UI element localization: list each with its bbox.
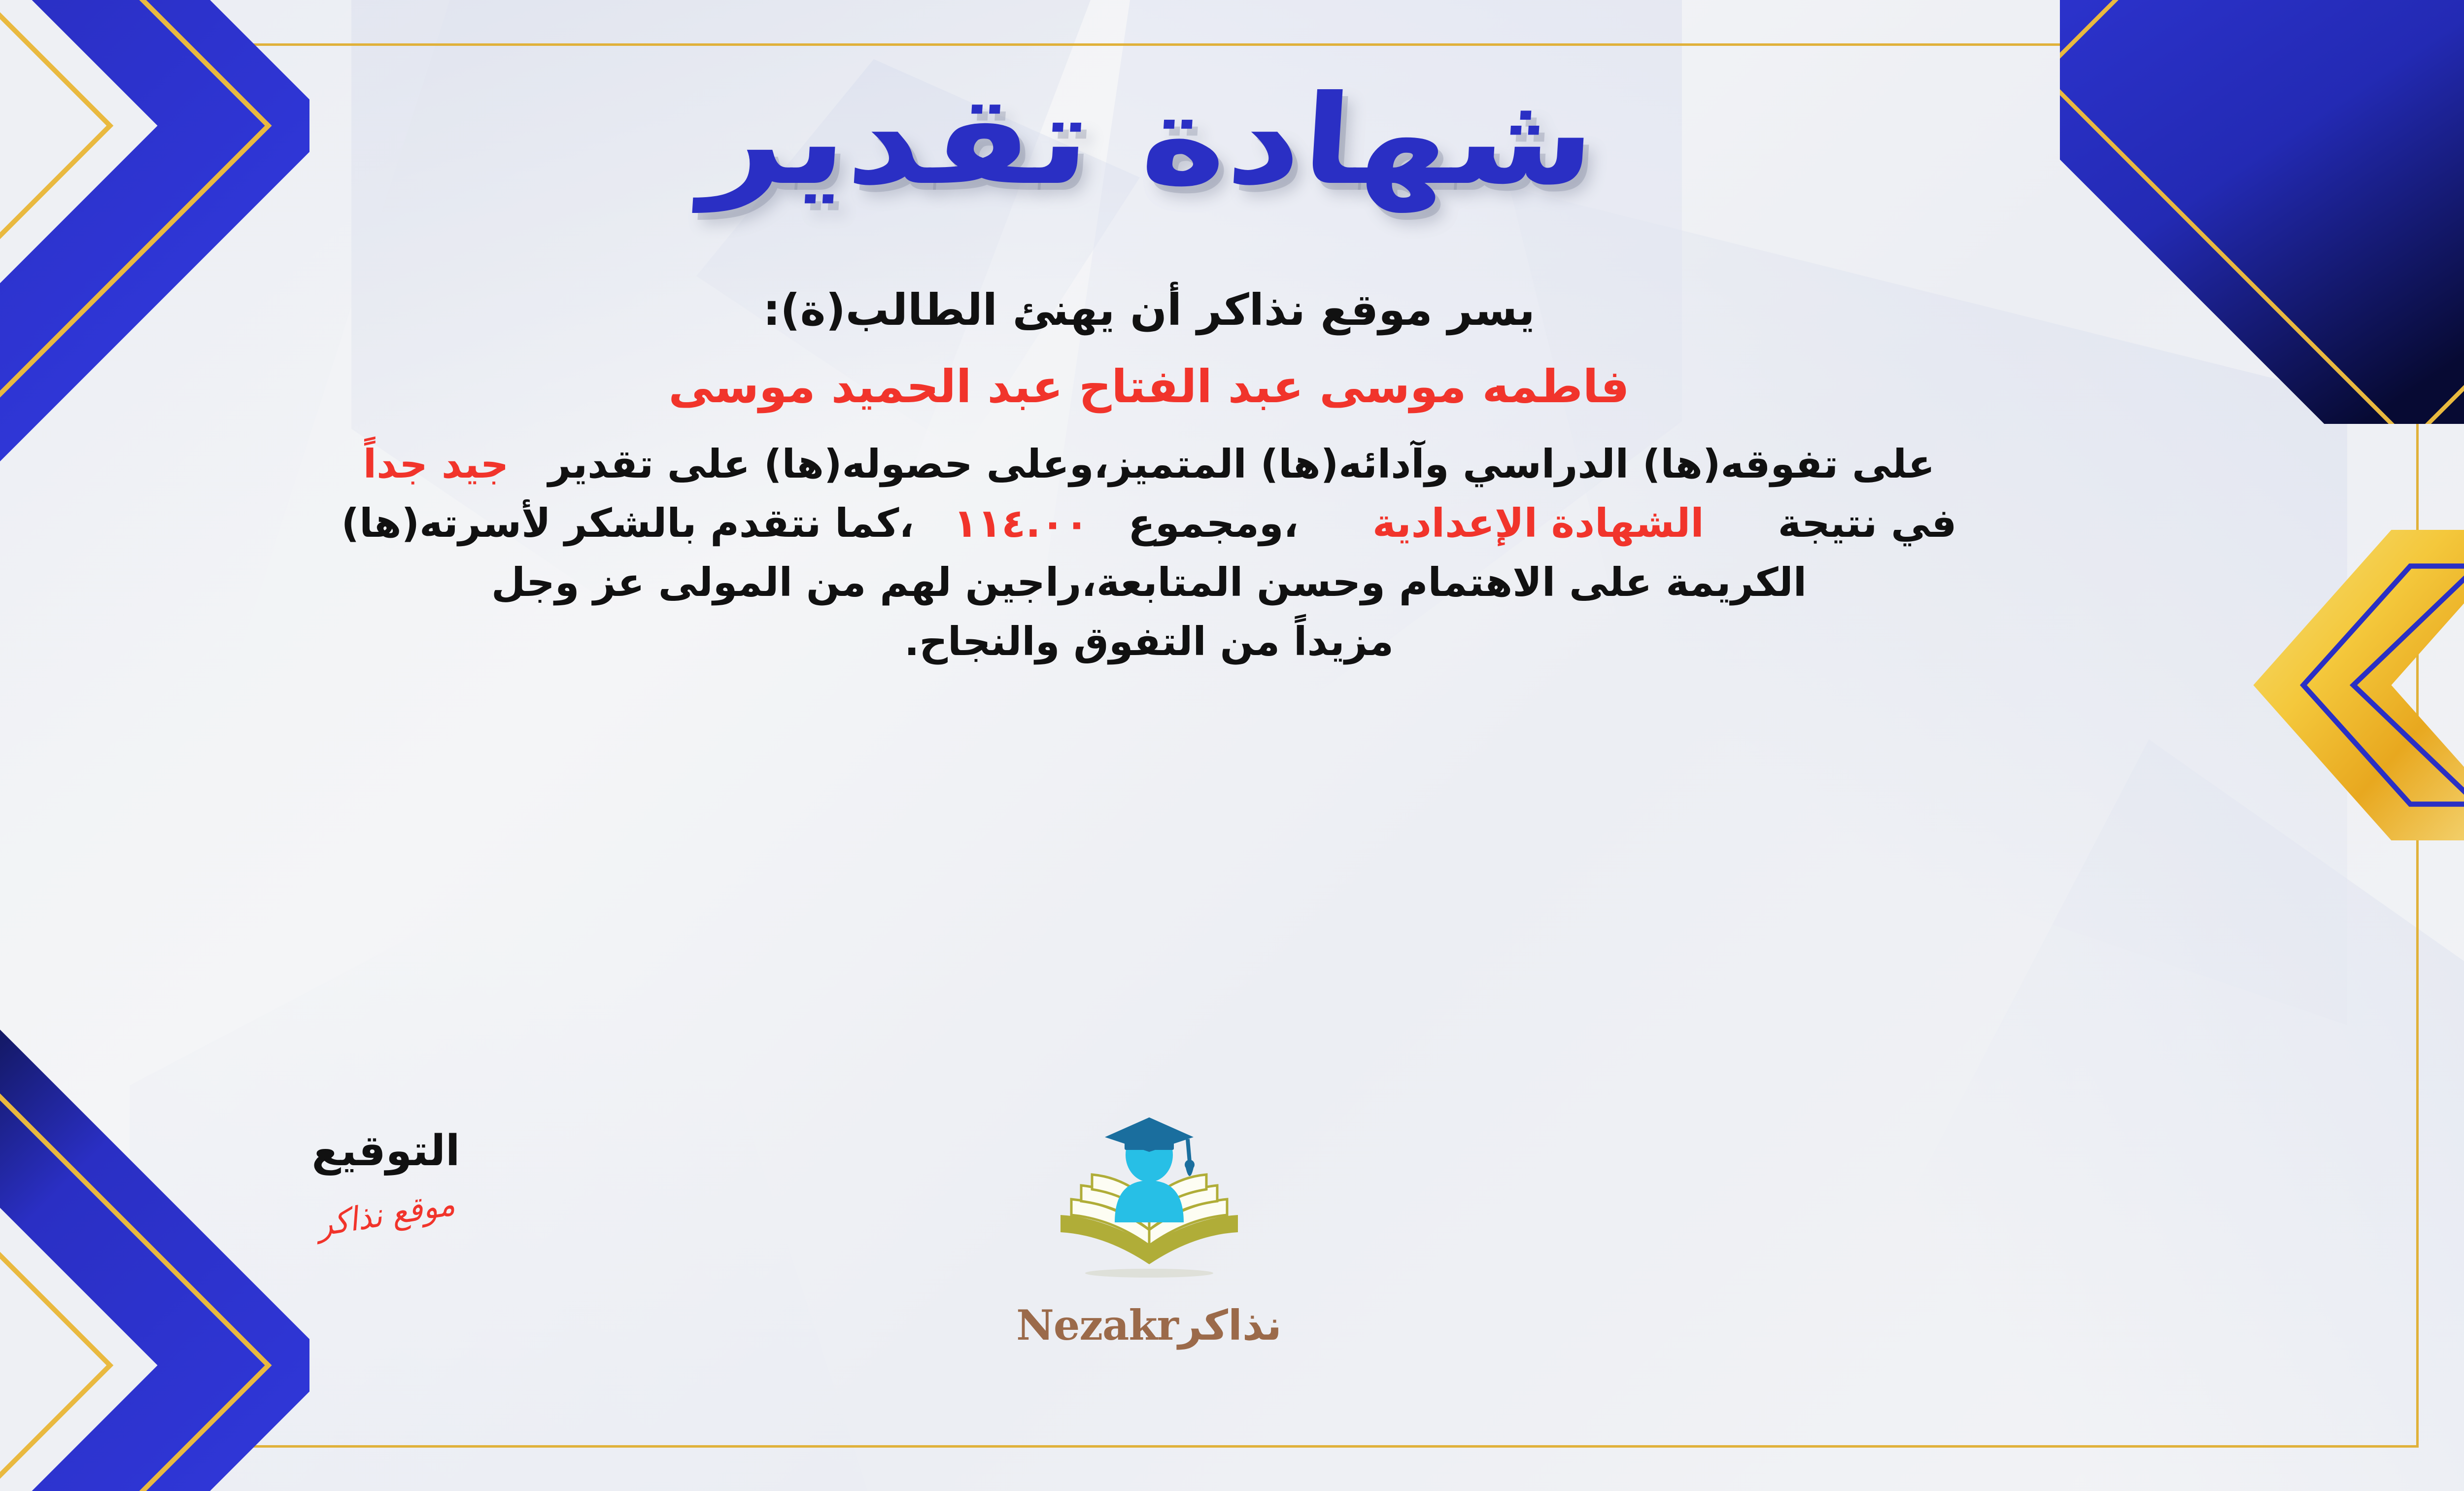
brand-latin: Nezakr — [1016, 1301, 1178, 1350]
body-line-family: الكريمة على الاهتمام وحسن المتابعة،راجين… — [21, 553, 2278, 612]
body-line-wish: مزيداً من التفوق والنجاح. — [21, 612, 2278, 671]
total-label: ،ومجموع — [1128, 500, 1299, 546]
total-score: ١١٤.٠٠ — [954, 500, 1089, 546]
title-area: شهادة تقدير — [0, 59, 2464, 222]
signature-block: التوقيع موقع نذاكر — [268, 1126, 504, 1233]
brand-logo: Nezakrنذاكر — [1011, 1116, 1287, 1350]
body-line-result: في نتيجةالشهادة الإعدادية،ومجموع١١٤.٠٠،ك… — [21, 494, 2278, 553]
greeting-line: يسر موقع نذاكر أن يهنئ الطالب(ة): — [763, 286, 1535, 335]
exam-name: الشهادة الإعدادية — [1372, 500, 1704, 546]
signature-label: التوقيع — [268, 1126, 504, 1176]
signature-mark: موقع نذاكر — [314, 1184, 457, 1244]
certificate-title: شهادة تقدير — [699, 79, 1599, 202]
student-name: فاطمه موسى عبد الفتاح عبد الحميد موسى — [669, 361, 1630, 412]
grade-value: جيد جداً — [363, 441, 509, 487]
certificate-footer: التوقيع موقع نذاكر — [0, 1116, 2405, 1422]
result-prefix: في نتيجة — [1778, 500, 1957, 546]
achievement-text: على تفوقه(ها) الدراسي وآدائه(ها) المتميز… — [548, 441, 1935, 487]
brand-wordmark: Nezakrنذاكر — [1011, 1301, 1287, 1350]
graduate-book-logo-icon — [1046, 1116, 1253, 1304]
certificate-canvas: شهادة تقدير يسر موقع نذاكر أن يهنئ الطال… — [0, 0, 2464, 1491]
thanks-text: ،كما نتقدم بالشكر لأسرته(ها) — [342, 500, 914, 546]
body-paragraph: على تفوقه(ها) الدراسي وآدائه(ها) المتميز… — [21, 435, 2278, 671]
brand-arabic: نذاكر — [1178, 1301, 1282, 1350]
body-line-achievement: على تفوقه(ها) الدراسي وآدائه(ها) المتميز… — [21, 435, 2278, 494]
